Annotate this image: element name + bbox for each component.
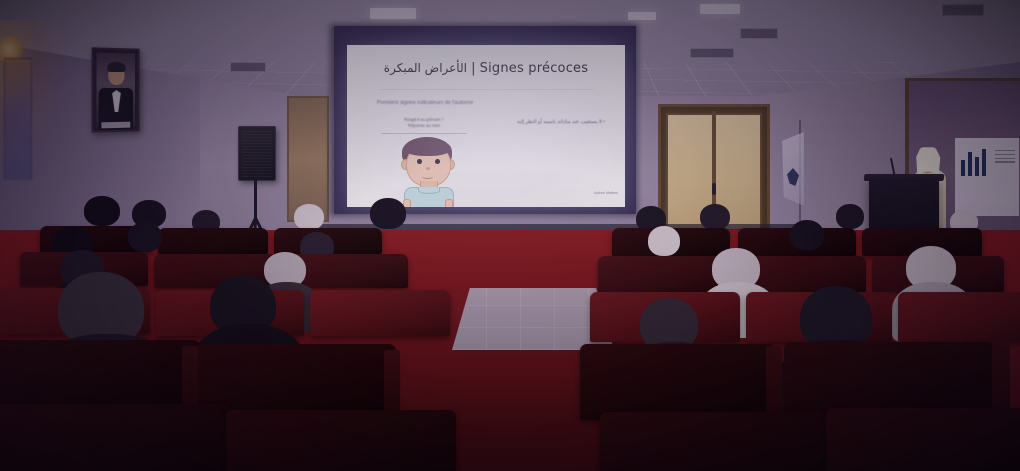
seat-foreground[interactable] [784, 342, 994, 418]
child-nose [426, 167, 430, 170]
seat-foreground[interactable] [600, 412, 830, 471]
speaker-grille [242, 130, 272, 177]
slide-caption-left-line1: Réagit-il au prénom ? [404, 117, 444, 122]
child-collar [418, 187, 440, 194]
slide-title-french: Signes précoces [480, 61, 589, 76]
person-head [700, 204, 730, 230]
child-eye-left [417, 159, 422, 164]
logo-bar [961, 160, 965, 176]
seat[interactable] [898, 292, 1020, 342]
slide-title-underline [379, 89, 593, 90]
person-head [370, 198, 406, 229]
child-eye-right [435, 159, 440, 164]
event-banner [955, 138, 1019, 216]
banner-logo-icon [961, 148, 991, 176]
child-mouth [422, 174, 433, 179]
logo-bar [968, 152, 972, 176]
banner-line [995, 161, 1015, 162]
ceiling-vent [690, 48, 734, 58]
seat-foreground[interactable] [0, 340, 200, 410]
logo-bar [975, 157, 979, 176]
banner-text-lines [995, 150, 1015, 165]
person-head [84, 196, 120, 226]
door-handle-icon[interactable] [712, 183, 716, 195]
slide-title: الأعراض المبكرة | Signes précoces [347, 61, 625, 76]
slide-bullet-text: Premiers signes indicateurs de l'autisme [377, 100, 601, 106]
seat-foreground[interactable] [226, 410, 456, 471]
ceiling-light-panel [370, 8, 416, 19]
slide-title-separator: | [471, 61, 475, 76]
slide-watermark: Autism Matters [594, 191, 618, 195]
logo-bar [982, 149, 986, 176]
ceiling-vent [740, 28, 778, 39]
seat[interactable] [310, 290, 450, 336]
seat-foreground[interactable] [196, 344, 396, 414]
slide-caption-left: Réagit-il au prénom ? Réponse au nom [381, 117, 467, 130]
person-head [836, 204, 864, 229]
slide-caption-right-marker: • [603, 119, 605, 125]
framed-portrait [92, 47, 140, 132]
ceiling-light-panel [700, 4, 740, 14]
slide-caption-left-rule [381, 133, 467, 134]
seat-foreground[interactable] [826, 408, 1020, 471]
seat[interactable] [598, 256, 730, 292]
person-head [790, 220, 824, 250]
banner-line [995, 154, 1015, 155]
slide-title-arabic: الأعراض المبكرة [384, 61, 467, 75]
portrait-nameplate [101, 122, 130, 129]
seat-foreground[interactable] [580, 344, 776, 420]
person-head-hijab [648, 226, 680, 256]
projected-slide: الأعراض المبكرة | Signes précoces Premie… [347, 45, 625, 207]
banner-line [995, 158, 1015, 159]
person-head-hijab [294, 204, 324, 230]
portrait-hair [107, 62, 125, 72]
banner-line [995, 150, 1015, 151]
presentation-hall-photo: الأعراض المبكرة | Signes précoces Premie… [0, 0, 1020, 471]
wall-decor-panel [4, 58, 32, 180]
ceiling-vent [230, 62, 266, 72]
cartoon-child-illustration [391, 137, 465, 207]
slide-caption-right-text: لا يستجيب عند مناداته باسمه أو النظر إلي… [517, 119, 602, 125]
slide-caption-right: • لا يستجيب عند مناداته باسمه أو النظر إ… [457, 119, 605, 125]
child-fringe [404, 140, 451, 156]
seat-row-back[interactable] [158, 228, 268, 254]
person-head [128, 222, 162, 252]
pa-speaker [238, 126, 276, 181]
seat-foreground[interactable] [0, 404, 230, 471]
ceiling-vent [942, 4, 984, 16]
child-arm-right [445, 199, 453, 207]
ceiling-light-panel [628, 12, 656, 20]
slide-caption-left-line2: Réponse au nom [408, 123, 440, 128]
